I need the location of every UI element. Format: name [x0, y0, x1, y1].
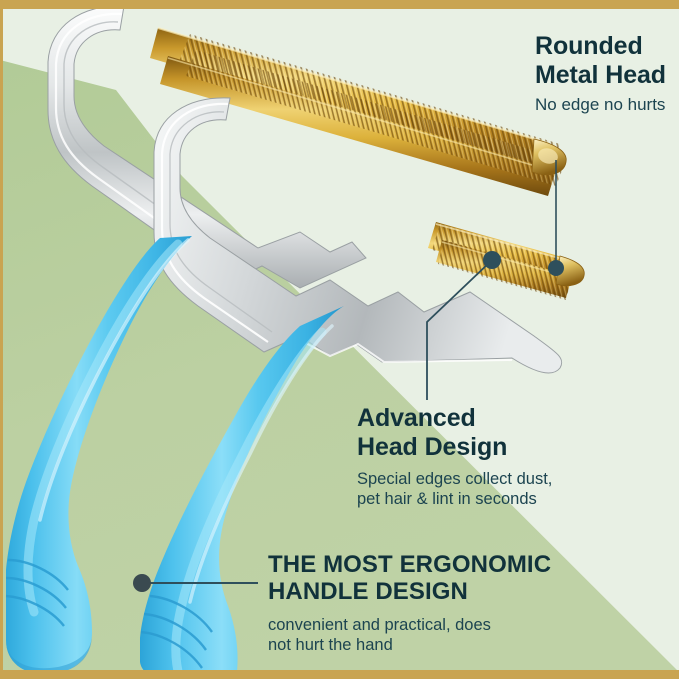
- callout-title-ergonomic-handle: THE MOST ERGONOMIC HANDLE DESIGN: [268, 551, 551, 606]
- product-infographic: Rounded Metal Head No edge no hurts Adva…: [0, 0, 679, 679]
- callout-dot-advanced-head-design: [483, 251, 501, 269]
- tool-rear: [48, 6, 610, 288]
- callout-subtitle-advanced-head-design: Special edges collect dust, pet hair & l…: [357, 469, 552, 509]
- callout-dot-ergonomic-handle: [133, 574, 151, 592]
- frame-band-top: [0, 0, 679, 9]
- callout-dot-rounded-metal-head: [548, 260, 564, 276]
- callout-title-rounded-metal-head: Rounded Metal Head: [535, 32, 666, 89]
- callout-ergonomic-handle: THE MOST ERGONOMIC HANDLE DESIGN conveni…: [268, 551, 551, 655]
- callout-advanced-head-design: Advanced Head Design Special edges colle…: [357, 404, 552, 509]
- callout-title-advanced-head-design: Advanced Head Design: [357, 404, 552, 461]
- callout-subtitle-rounded-metal-head: No edge no hurts: [535, 95, 666, 116]
- frame-band-bottom: [0, 670, 679, 679]
- callout-subtitle-ergonomic-handle: convenient and practical, does not hurt …: [268, 615, 551, 655]
- callout-rounded-metal-head: Rounded Metal Head No edge no hurts: [535, 32, 666, 116]
- frame-band-left: [0, 0, 3, 679]
